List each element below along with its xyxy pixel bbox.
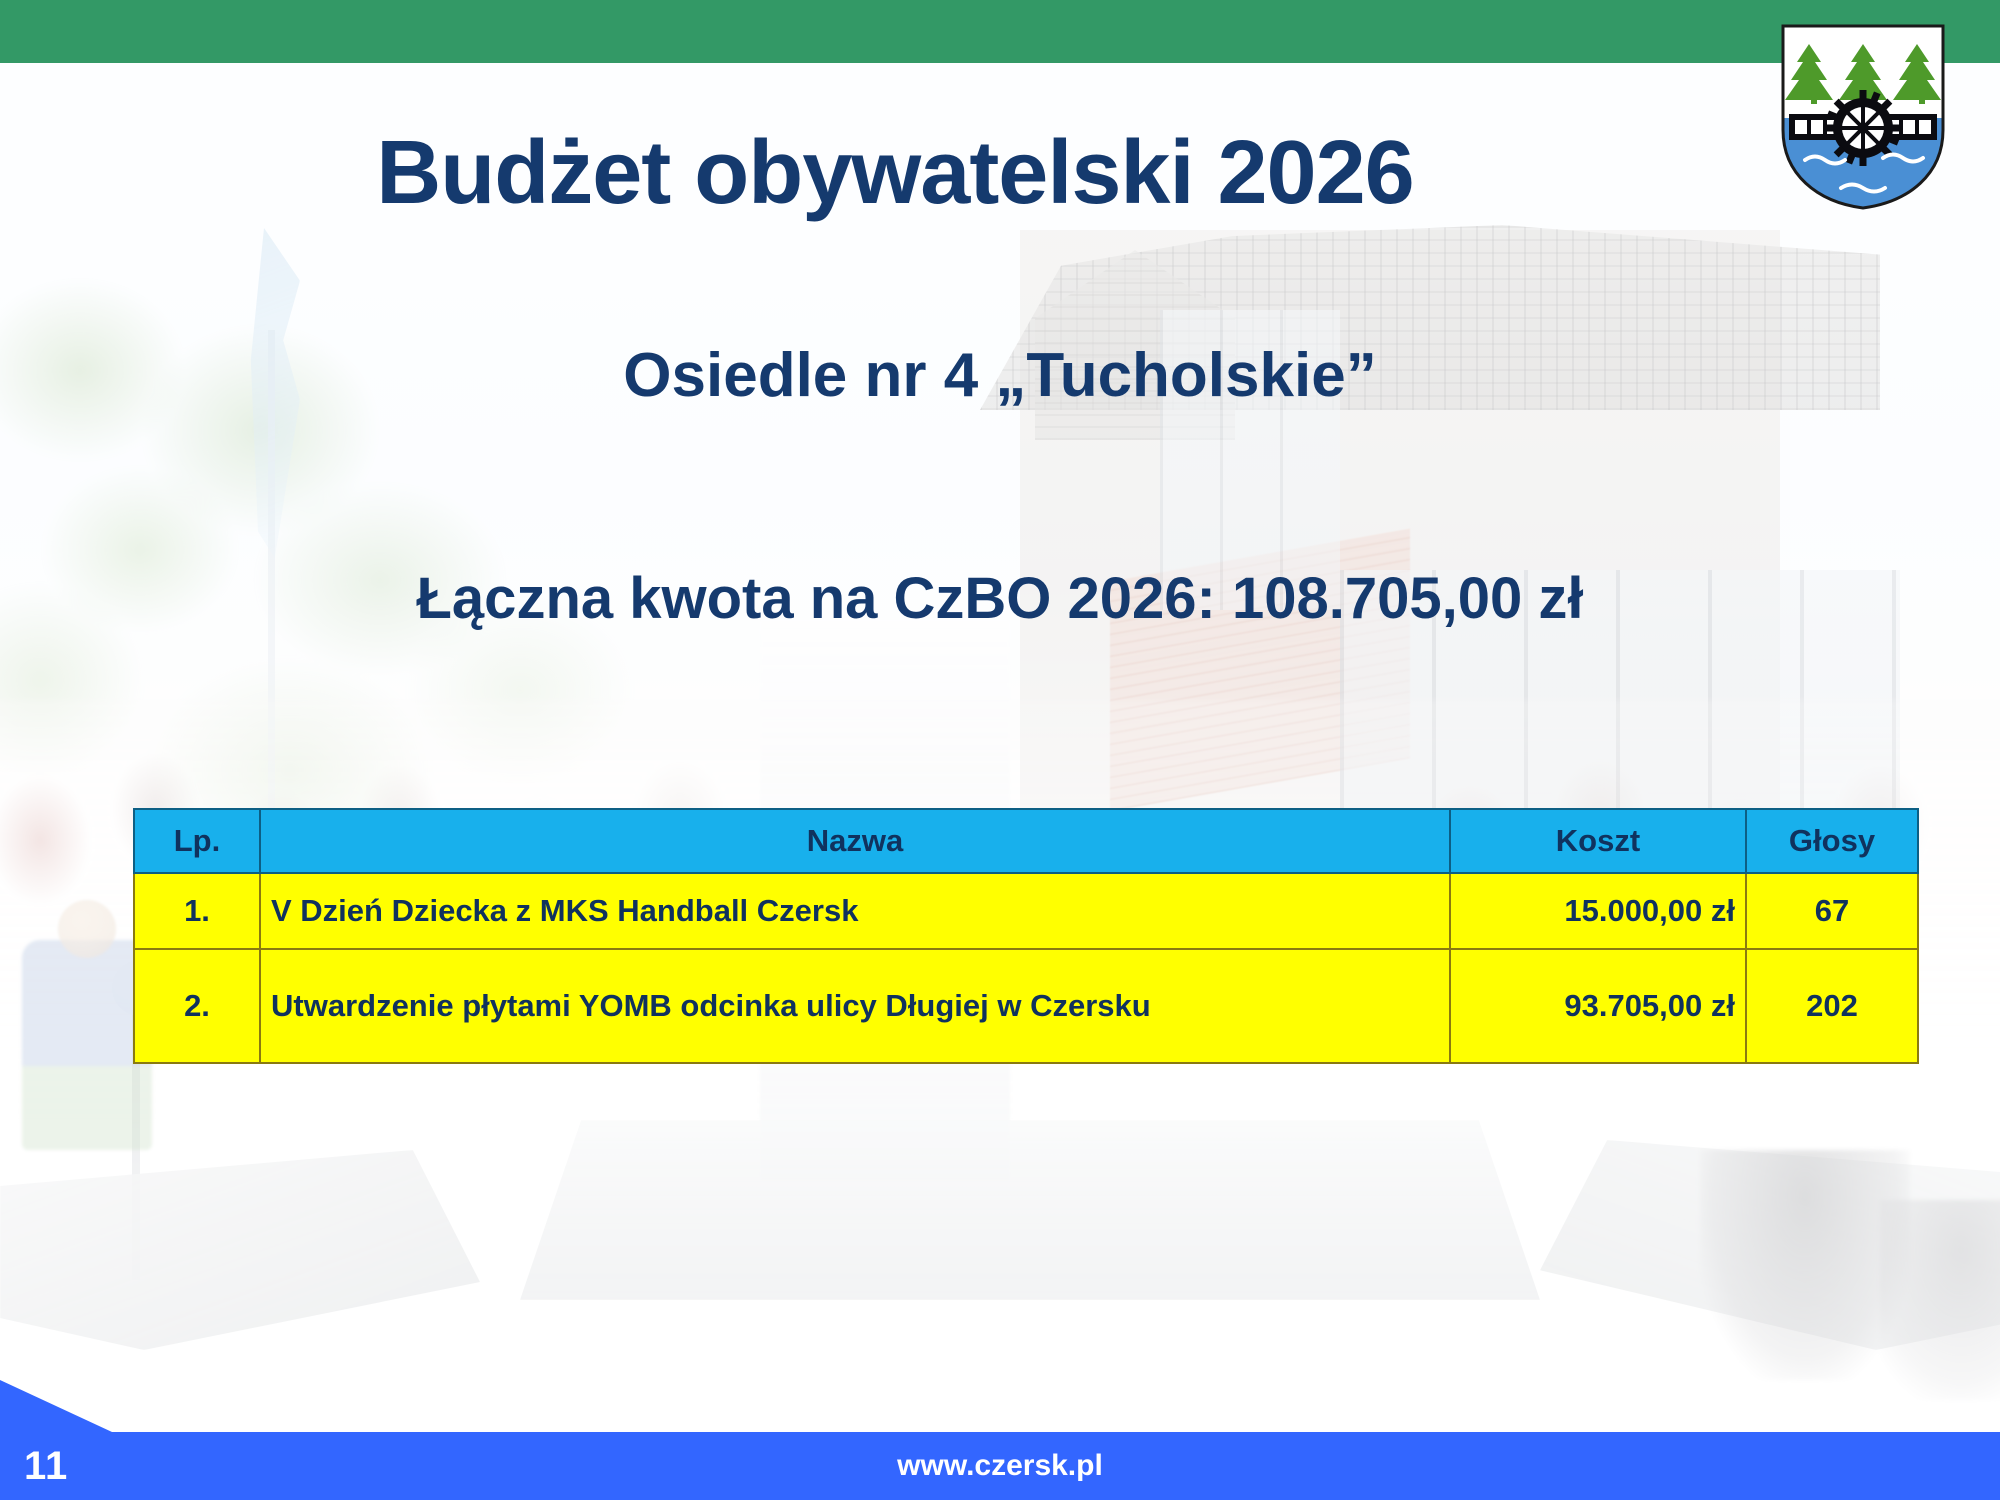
column-header-lp: Lp. xyxy=(134,809,260,873)
cell-koszt: 15.000,00 zł xyxy=(1450,873,1746,949)
footer-website-link[interactable]: www.czersk.pl xyxy=(0,1449,2000,1483)
column-header-glosy: Głosy xyxy=(1746,809,1918,873)
subtitle-total-amount: Łączna kwota na CzBO 2026: 108.705,00 zł xyxy=(0,565,2000,632)
cell-koszt: 93.705,00 zł xyxy=(1450,949,1746,1063)
cell-nazwa: V Dzień Dziecka z MKS Handball Czersk xyxy=(260,873,1450,949)
photo-fade-overlay xyxy=(0,0,2000,1500)
subtitle-district: Osiedle nr 4 „Tucholskie” xyxy=(0,340,2000,411)
cell-glosy: 67 xyxy=(1746,873,1918,949)
column-header-nazwa: Nazwa xyxy=(260,809,1450,873)
cell-nazwa: Utwardzenie płytami YOMB odcinka ulicy D… xyxy=(260,949,1450,1063)
column-header-koszt: Koszt xyxy=(1450,809,1746,873)
table-header-row: Lp. Nazwa Koszt Głosy xyxy=(134,809,1918,873)
projects-table: Lp. Nazwa Koszt Głosy 1. V Dzień Dziecka… xyxy=(133,808,1919,1064)
cell-glosy: 202 xyxy=(1746,949,1918,1063)
projects-table-container: Lp. Nazwa Koszt Głosy 1. V Dzień Dziecka… xyxy=(133,808,1919,1064)
table-row: 1. V Dzień Dziecka z MKS Handball Czersk… xyxy=(134,873,1918,949)
bottom-blue-bar: 11 www.czersk.pl xyxy=(0,1432,2000,1500)
top-green-bar xyxy=(0,0,2000,63)
cell-lp: 1. xyxy=(134,873,260,949)
presentation-slide: Budżet obywatelski 2026 Osiedle nr 4 „Tu… xyxy=(0,0,2000,1500)
cell-lp: 2. xyxy=(134,949,260,1063)
coat-of-arms-icon xyxy=(1779,22,1947,212)
page-title: Budżet obywatelski 2026 xyxy=(0,122,1790,225)
table-row: 2. Utwardzenie płytami YOMB odcinka ulic… xyxy=(134,949,1918,1063)
